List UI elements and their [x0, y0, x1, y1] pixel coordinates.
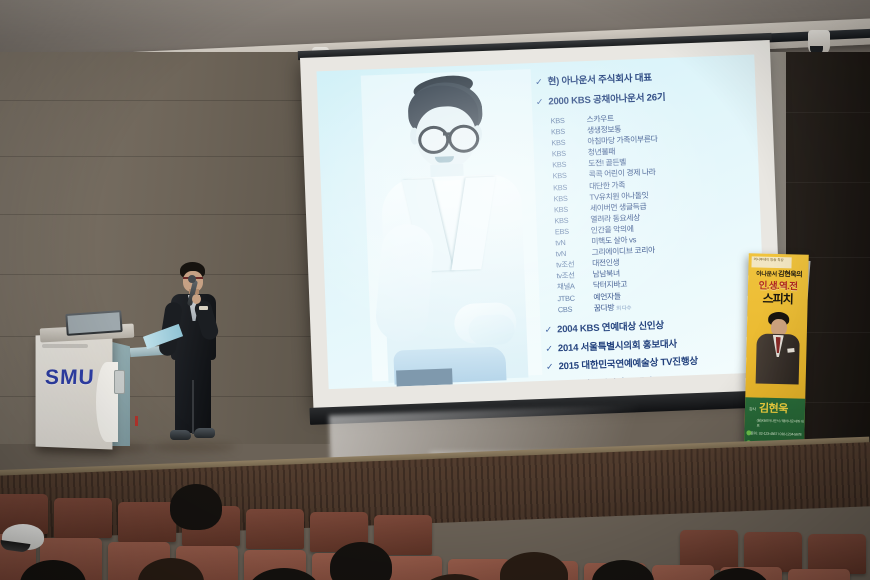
program-channel: tvN: [556, 248, 586, 259]
award-label: 2004 KBS 연예대상 신인상: [557, 320, 664, 335]
podium-monitor: [65, 310, 122, 336]
banner-speaker-name: 김현욱: [759, 403, 788, 417]
program-channel: KBS: [551, 137, 581, 148]
banner-portrait: [754, 311, 802, 384]
lectern-podium: SMU: [34, 318, 138, 448]
seat: [652, 565, 714, 580]
seat: [680, 530, 738, 570]
program-name-suffix: 외 다수: [616, 305, 631, 312]
program-channel: KBS: [554, 204, 584, 215]
banner-line2: 인.생.역.전: [750, 280, 806, 292]
program-name: 꿈다방 외 다수: [594, 302, 632, 315]
banner-line1: 아나운서 김현욱의: [752, 270, 806, 279]
banner-header-strip: 머니투데이 방송 특강: [751, 256, 791, 268]
banner-contact-line1: 문의 : 02-123-4567 / 010-1234-5678: [750, 431, 801, 437]
program-name: 세이버먼 생글득급: [590, 202, 647, 214]
slide-bullet: ✓ 2015 대한민국연예예술상 TV진행상: [546, 354, 762, 373]
seat: [246, 509, 304, 549]
podium-control-panel[interactable]: [114, 370, 125, 394]
program-channel: KBS: [550, 115, 580, 126]
check-icon: ✓: [544, 325, 552, 336]
program-name: 대전인생: [592, 258, 620, 269]
program-name: 아침마당 가족이부른다: [587, 135, 657, 147]
check-icon: ✓: [535, 77, 543, 88]
program-name: 그리에이디브 코리아: [592, 246, 656, 258]
presenter-person: [158, 262, 226, 448]
seat: [788, 569, 850, 580]
award-label: 2015 대한민국연예예술상 TV진행상: [558, 356, 698, 372]
podium-logo: SMU: [44, 366, 95, 390]
program-credits-list: KBS스카우트 KBS생생정보통 KBS아침마당 가족이부른다 KBS청년불패 …: [550, 109, 760, 317]
program-channel: tvN: [555, 237, 585, 248]
program-name: 도전! 골든벨: [588, 158, 626, 169]
program-name: 대단한 가족: [589, 180, 625, 191]
slide-bullet: ✓ 2000 KBS 공채아나운서 26기: [536, 89, 752, 108]
program-name: 예언자들: [593, 291, 621, 302]
check-icon: ✓: [546, 362, 554, 373]
program-name: 청년불패: [588, 147, 616, 158]
slide-text-block: ✓ 현) 아나운서 주식회사 대표 ✓ 2000 KBS 공채아나운서 26기 …: [535, 69, 763, 389]
program-channel: KBS: [553, 193, 583, 204]
program-name: 닥터지바고: [593, 280, 627, 291]
program-name: 미핵도 살아 vs: [591, 235, 636, 246]
program-channel: KBS: [552, 149, 582, 160]
slide-bullet: ✓ 2004 KBS 연예대상 신인상: [544, 317, 760, 336]
program-channel: 채널A: [557, 282, 587, 293]
banner-header-label: 머니투데이 방송 특강: [752, 256, 792, 264]
program-name: 남남북녀: [592, 269, 620, 280]
check-icon: ✓: [545, 343, 553, 354]
award-label: 2014 서울특별시의회 홍보대사: [558, 338, 677, 354]
program-channel: CBS: [558, 304, 588, 317]
auditorium-photo: ✓ 현) 아나운서 주식회사 대표 ✓ 2000 KBS 공채아나운서 26기 …: [0, 0, 870, 580]
program-channel: KBS: [552, 160, 582, 171]
audience-person-head: [170, 484, 222, 530]
program-name-text: 꿈다방: [594, 303, 615, 313]
program-channel: KBS: [553, 182, 583, 193]
audience-person-head: [500, 552, 568, 580]
program-name: 생생정보통: [587, 125, 621, 136]
projection-screen: ✓ 현) 아나운서 주식회사 대표 ✓ 2000 KBS 공채아나운서 26기 …: [300, 40, 783, 410]
banner-line1-prefix: 아나운서: [756, 271, 777, 277]
program-channel: KBS: [554, 215, 584, 226]
program-name: 열려라 동요세상: [590, 213, 640, 224]
presentation-slide: ✓ 현) 아나운서 주식회사 대표 ✓ 2000 KBS 공채아나운서 26기 …: [317, 55, 767, 390]
slide-bullet: ✓ 2014 서울특별시의회 홍보대사: [545, 335, 761, 354]
banner-role-label: 강사: [749, 406, 756, 412]
slide-bullet: ✓ 현) 아나운서 주식회사 대표: [535, 69, 751, 88]
banner-line1-name: 김현욱의: [778, 271, 802, 279]
seat: [744, 532, 802, 572]
program-name: 스카우트: [586, 114, 614, 125]
audience-seating: [0, 498, 870, 580]
slide-bullet-label: 2000 KBS 공채아나운서 26기: [548, 92, 665, 107]
program-name: 콕콕 어린이 경제 나라: [589, 168, 656, 180]
program-name: TV유치원 아나돌잇: [589, 190, 648, 202]
podium-indicator-led: [135, 416, 138, 426]
program-channel: KBS: [553, 171, 583, 182]
slide-bullet-label: 현) 아나운서 주식회사 대표: [547, 73, 652, 88]
seat: [808, 534, 866, 574]
program-channel: tv조선: [556, 270, 586, 281]
seat: [54, 498, 112, 538]
program-channel: JTBC: [557, 293, 587, 304]
check-icon: ✓: [536, 97, 544, 108]
slide-portrait-photo: [361, 69, 543, 381]
microphone-head-icon: [188, 275, 196, 283]
banner-speaker-subtitle: (前)KBS아나운서 / 現아나운서㈜ 대표: [757, 418, 805, 429]
seat: [118, 502, 176, 542]
program-channel: tv조선: [556, 259, 586, 270]
program-channel: KBS: [551, 126, 581, 137]
program-channel: EBS: [555, 226, 585, 237]
banner-line3: 스피치: [750, 292, 806, 306]
program-name: 인간을 악의에: [591, 224, 634, 235]
